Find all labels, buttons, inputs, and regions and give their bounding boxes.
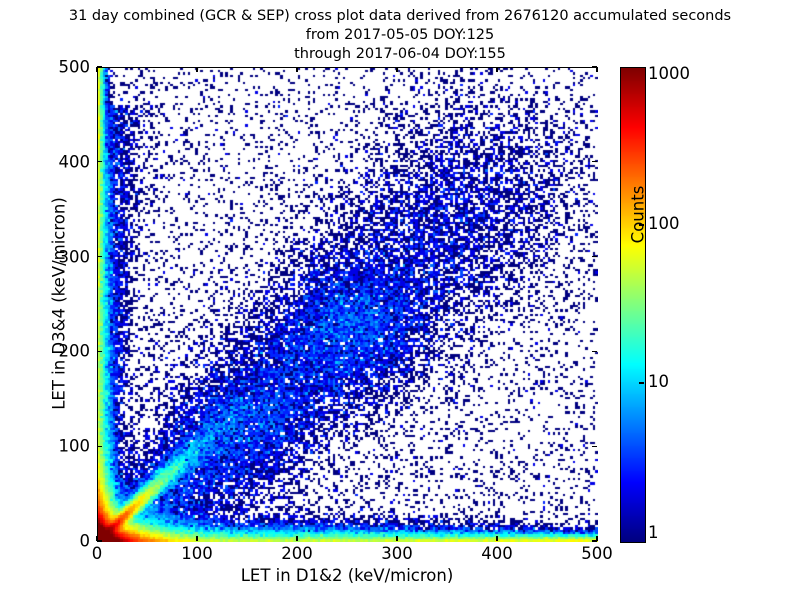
colorbar-tick-label: 10 [648,372,669,391]
page-title: 31 day combined (GCR & SEP) cross plot d… [0,7,800,64]
y-tick-mark [97,540,102,541]
y-tick-mark-right [592,256,597,257]
x-tick-label: 200 [281,544,313,563]
x-tick-mark [396,536,397,541]
x-axis-label: LET in D1&2 (keV/micron) [97,566,597,585]
x-tick-mark-top [196,67,197,72]
y-tick-mark-right [592,446,597,447]
title-line-1: 31 day combined (GCR & SEP) cross plot d… [0,7,800,26]
scatter-heatmap-canvas [98,68,598,542]
x-tick-label: 300 [381,544,413,563]
x-tick-mark [496,536,497,541]
y-tick-mark [97,161,102,162]
colorbar-tick-label: 100 [648,214,680,233]
figure-canvas: 31 day combined (GCR & SEP) cross plot d… [0,0,800,600]
plot-axes-frame [97,67,597,541]
title-line-3: through 2017-06-04 DOY:155 [0,45,800,64]
y-tick-mark-right [592,161,597,162]
x-tick-label: 500 [581,544,613,563]
y-tick-mark [97,66,102,67]
x-tick-mark-top [96,67,97,72]
x-tick-label: 400 [481,544,513,563]
x-tick-label: 100 [181,544,213,563]
y-tick-mark-right [592,540,597,541]
x-tick-label: 0 [92,544,103,563]
y-axis-label: LET in D3&4 (keV/micron) [50,67,69,541]
colorbar-tick-label: 1000 [648,64,690,83]
x-tick-mark-top [496,67,497,72]
y-tick-mark [97,256,102,257]
x-tick-mark-top [396,67,397,72]
x-tick-mark-top [296,67,297,72]
y-tick-mark-right [592,351,597,352]
title-line-2: from 2017-05-05 DOY:125 [0,26,800,45]
x-tick-mark [196,536,197,541]
colorbar-tick-label: 1 [648,523,659,542]
colorbar-label: Counts [629,115,648,315]
y-tick-mark [97,446,102,447]
colorbar-tick-mark [639,382,644,383]
y-tick-mark [97,351,102,352]
x-tick-mark-top [596,67,597,72]
y-tick-mark-right [592,66,597,67]
x-tick-mark [296,536,297,541]
